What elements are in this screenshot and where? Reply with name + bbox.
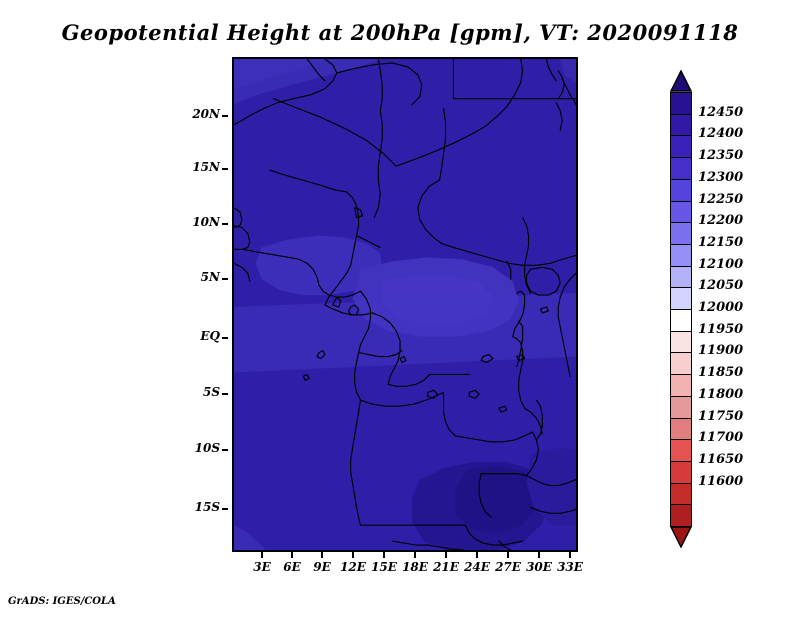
page-title: Geopotential Height at 200hPa [gpm], VT:…: [0, 20, 800, 45]
colorbar-cell: [670, 352, 692, 375]
colorbar-cell: [670, 179, 692, 202]
longitude-tick-mark: [414, 552, 416, 558]
colorbar-cell: [670, 309, 692, 332]
longitude-tick-label: 30E: [526, 560, 552, 574]
latitude-tick-label: 5S: [203, 385, 220, 399]
longitude-tick-label: 27E: [495, 560, 521, 574]
latitude-tick-label: EQ: [200, 329, 220, 343]
latitude-tick-label: 10N: [192, 215, 220, 229]
longitude-tick-label: 21E: [433, 560, 459, 574]
colorbar-cell: [670, 244, 692, 267]
longitude-tick-mark: [291, 552, 293, 558]
longitude-tick-mark: [507, 552, 509, 558]
colorbar-tick-label: 12000: [698, 300, 743, 315]
credit-text: GrADS: IGES/COLA: [8, 596, 116, 607]
colorbar-cell: [670, 287, 692, 310]
longitude-tick-mark: [445, 552, 447, 558]
latitude-tick-mark: [222, 508, 228, 510]
longitude-tick-mark: [261, 552, 263, 558]
colorbar-tick-label: 12250: [698, 192, 743, 207]
latitude-tick-mark: [222, 449, 228, 451]
longitude-tick-label: 33E: [557, 560, 583, 574]
colorbar-cap-bottom: [670, 526, 692, 548]
latitude-tick-label: 15N: [192, 160, 220, 174]
latitude-tick-mark: [222, 393, 228, 395]
longitude-tick-label: 6E: [283, 560, 301, 574]
colorbar-cell: [670, 222, 692, 245]
colorbar-cell: [670, 157, 692, 180]
colorbar-cell: [670, 92, 692, 115]
colorbar-tick-label: 12350: [698, 148, 743, 163]
latitude-tick-mark: [222, 278, 228, 280]
colorbar-tick-label: 11850: [698, 365, 743, 380]
map-plot-area: [232, 57, 578, 552]
colorbar-cell: [670, 504, 692, 527]
colorbar-cell: [670, 396, 692, 419]
longitude-tick-label: 9E: [313, 560, 331, 574]
colorbar-tick-label: 11900: [698, 343, 743, 358]
longitude-tick-mark: [538, 552, 540, 558]
longitude-tick-mark: [383, 552, 385, 558]
longitude-tick-mark: [569, 552, 571, 558]
colorbar-tick-label: 12200: [698, 213, 743, 228]
colorbar-cell: [670, 439, 692, 462]
longitude-tick-label: 3E: [253, 560, 271, 574]
colorbar-tick-label: 12300: [698, 170, 743, 185]
latitude-tick-mark: [222, 115, 228, 117]
colorbar-cell: [670, 201, 692, 224]
colorbar-cell: [670, 461, 692, 484]
latitude-tick-label: 20N: [192, 107, 220, 121]
latitude-tick-mark: [222, 337, 228, 339]
colorbar-cell: [670, 418, 692, 441]
colorbar-cell: [670, 483, 692, 506]
latitude-tick-label: 10S: [195, 441, 220, 455]
colorbar-tick-label: 12400: [698, 126, 743, 141]
colorbar-tick-label: 11950: [698, 322, 743, 337]
colorbar-cell: [670, 331, 692, 354]
colorbar-cell: [670, 135, 692, 158]
colorbar-cell: [670, 114, 692, 137]
colorbar-tick-label: 12100: [698, 257, 743, 272]
longitude-tick-label: 15E: [371, 560, 397, 574]
longitude-tick-label: 24E: [464, 560, 490, 574]
longitude-tick-mark: [476, 552, 478, 558]
field-patch-southeast-2: [455, 466, 536, 533]
longitude-tick-label: 12E: [340, 560, 366, 574]
colorbar-tick-label: 12450: [698, 105, 743, 120]
latitude-tick-label: 5N: [201, 270, 220, 284]
geopotential-height-map: [234, 59, 576, 550]
colorbar-tick-label: 11600: [698, 474, 743, 489]
colorbar-cell: [670, 374, 692, 397]
colorbar-tick-label: 11800: [698, 387, 743, 402]
latitude-tick-mark: [222, 223, 228, 225]
colorbar-tick-label: 12050: [698, 278, 743, 293]
colorbar: 1245012400123501230012250122001215012100…: [670, 70, 692, 548]
colorbar-cell: [670, 266, 692, 289]
colorbar-tick-label: 11700: [698, 430, 743, 445]
colorbar-tick-label: 11750: [698, 409, 743, 424]
colorbar-tick-label: 12150: [698, 235, 743, 250]
colorbar-cap-top: [670, 70, 692, 92]
latitude-tick-mark: [222, 168, 228, 170]
colorbar-tick-label: 11650: [698, 452, 743, 467]
longitude-tick-mark: [321, 552, 323, 558]
longitude-tick-mark: [352, 552, 354, 558]
latitude-tick-label: 15S: [195, 500, 220, 514]
longitude-tick-label: 18E: [402, 560, 428, 574]
